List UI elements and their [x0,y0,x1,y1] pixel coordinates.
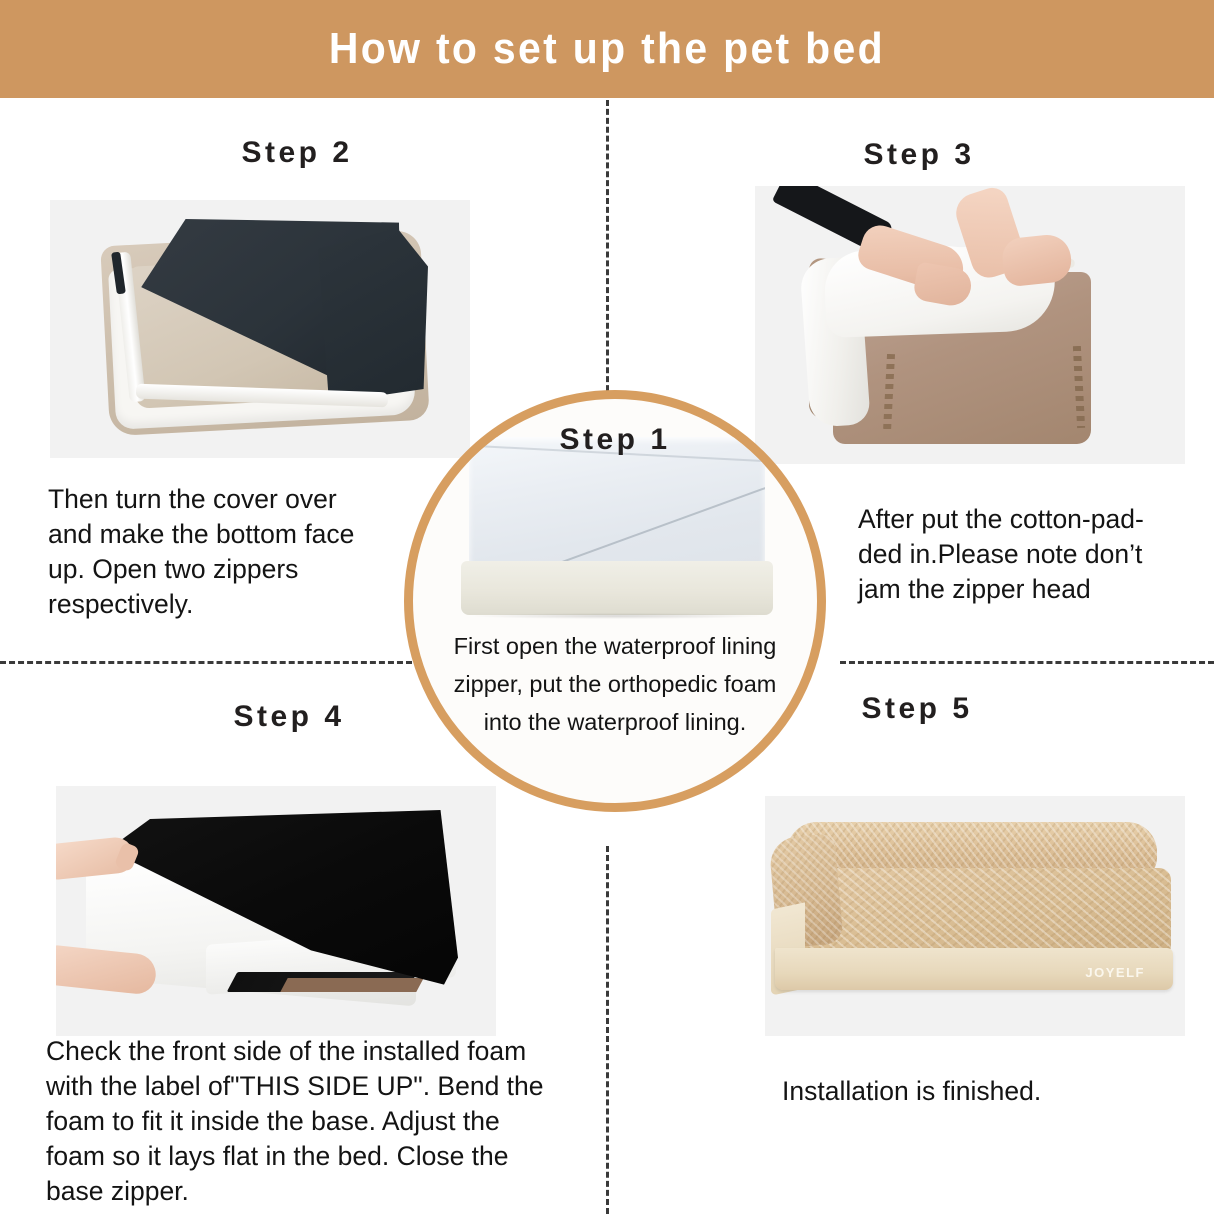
brand-logo: JOYELF [1085,965,1145,980]
step-1-caption: First open the waterproof lining zipper,… [439,627,791,741]
divider-vertical-top [606,100,609,400]
step-4-photo [56,786,496,1036]
foam-base-block [461,561,773,615]
bed-base: JOYELF [775,948,1173,990]
step-2-caption: Then turn the cover over and make the bo… [48,482,398,622]
infographic-page: How to set up the pet bed Step 2 Then tu… [0,0,1214,1214]
divider-vertical-bottom [606,846,609,1214]
step-4-caption: Check the front side of the installed fo… [46,1034,586,1209]
step-3-caption: After put the cotton-pad- ded in.Please … [858,502,1214,607]
cover-dark-panel-2 [318,228,428,403]
step-3-photo [755,186,1185,464]
header-bar: How to set up the pet bed [0,0,1214,98]
step-2-heading: Step 2 [0,136,606,170]
foam-shadow [471,613,763,619]
step-5-caption: Installation is finished. [782,1074,1202,1109]
brown-label-strip [280,978,423,992]
step-5-photo: JOYELF [765,796,1185,1036]
step-3-heading: Step 3 [610,138,1214,172]
step-1-circle: Step 1 First open the waterproof lining … [404,390,826,812]
page-title: How to set up the pet bed [329,24,885,74]
step-2-photo [50,200,470,458]
step-1-photo [461,437,773,619]
step-1-heading: Step 1 [413,423,817,457]
